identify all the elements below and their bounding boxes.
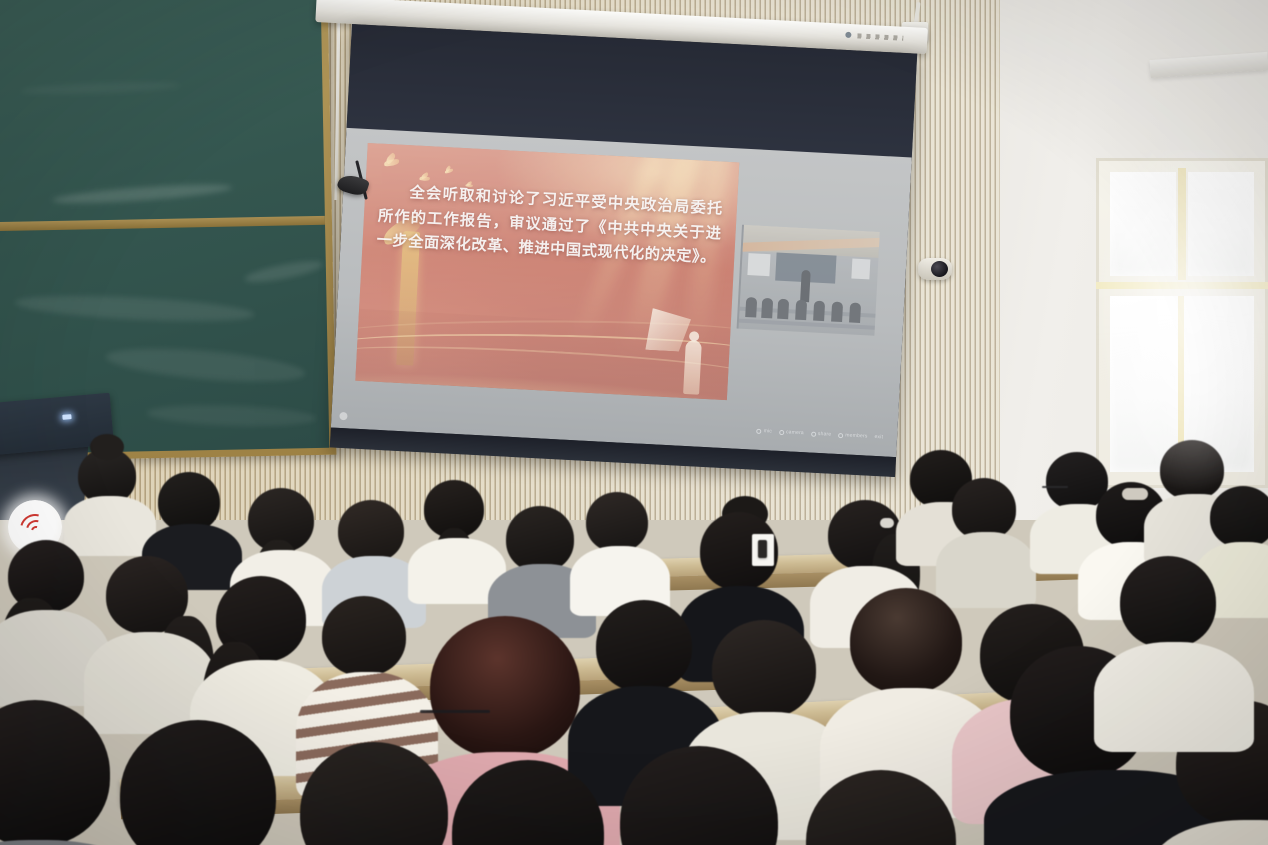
- feed-student: [813, 301, 825, 322]
- head: [1176, 700, 1268, 826]
- ponytail: [434, 528, 474, 600]
- toolbar-item-share[interactable]: share: [811, 431, 832, 438]
- ponytail: [254, 540, 302, 628]
- camera-lens: [931, 261, 948, 277]
- window-mullion: [1178, 296, 1184, 472]
- head: [0, 700, 110, 845]
- head: [322, 596, 406, 676]
- desk-front: [301, 674, 781, 705]
- classroom-photo: 全会听取和讨论了习近平受中央政治局委托所作的工作报告，审议通过了《中共中央关于进…: [0, 0, 1268, 845]
- chalk-smudge: [105, 343, 307, 388]
- feed-student: [745, 297, 757, 318]
- window-pane: [1188, 172, 1254, 276]
- ponytail: [872, 534, 920, 618]
- head: [850, 588, 962, 694]
- dove-icon: [445, 168, 459, 177]
- presentation-slide: 全会听取和讨论了习近平受中央政治局委托所作的工作报告，审议通过了《中共中央关于进…: [355, 143, 739, 400]
- desk-row: [640, 689, 1061, 735]
- chalk-smudge: [146, 403, 317, 429]
- projection-screen: 全会听取和讨论了习近平受中央政治局委托所作的工作报告，审议通过了《中共中央关于进…: [330, 24, 917, 477]
- nike-swoosh-logo: [1153, 830, 1207, 845]
- head: [216, 576, 306, 662]
- feed-presenter: [800, 270, 811, 302]
- live-camera-feed-thumbnail[interactable]: [737, 225, 880, 336]
- feed-wall-panel: [747, 253, 770, 276]
- members-icon: [838, 433, 843, 438]
- housing-vent: [857, 33, 903, 40]
- desk-front: [121, 791, 541, 820]
- head: [806, 770, 956, 845]
- classroom-window: [1096, 158, 1268, 488]
- torso: [142, 524, 242, 590]
- housing-led-icon: [845, 32, 851, 38]
- feed-student: [777, 299, 789, 320]
- window-mullion: [1178, 168, 1186, 280]
- window-pane: [1110, 172, 1176, 276]
- torso: [1094, 642, 1254, 752]
- camera-icon: [779, 429, 784, 434]
- desk-front: [641, 713, 1061, 749]
- window-rail: [1096, 282, 1268, 289]
- torso: [0, 840, 156, 845]
- long-hair: [158, 616, 214, 724]
- mic-icon: [757, 428, 762, 433]
- chalk-smudge: [243, 257, 324, 286]
- feed-student: [795, 300, 807, 321]
- torso: [84, 632, 216, 734]
- torso: [488, 564, 596, 638]
- chalk-smudge: [52, 181, 232, 207]
- torso: [1152, 820, 1268, 845]
- torso: [230, 550, 336, 626]
- long-hair: [202, 642, 268, 772]
- head: [106, 556, 188, 634]
- toolbar-item-exit[interactable]: exit: [874, 434, 883, 440]
- torso: [322, 556, 426, 628]
- desk-row: [660, 553, 870, 576]
- toolbar-item-mic[interactable]: mic: [756, 428, 772, 435]
- toolbar-item-camera[interactable]: camera: [779, 429, 804, 436]
- long-hair: [0, 598, 64, 710]
- feed-student: [849, 302, 861, 323]
- chalk-smudge: [20, 80, 180, 96]
- chalk-smudge: [14, 291, 255, 325]
- dove-icon: [384, 158, 408, 172]
- surveillance-camera-icon: [918, 258, 952, 280]
- desk-front: [660, 571, 870, 590]
- feed-student: [761, 298, 773, 319]
- eyeglasses: [420, 710, 490, 713]
- chalkboard-divider: [0, 216, 325, 231]
- head: [980, 604, 1084, 704]
- water-bottle: [1044, 526, 1060, 570]
- chalkboard-surface: [0, 0, 329, 454]
- share-icon: [811, 431, 816, 436]
- torso: [408, 538, 506, 604]
- desk-row: [300, 652, 780, 691]
- feed-student: [831, 302, 843, 323]
- power-led-icon: [62, 414, 71, 420]
- chalkboard: [0, 0, 336, 461]
- head: [620, 746, 778, 845]
- lectern: [0, 393, 114, 456]
- feed-wall-panel: [851, 259, 870, 280]
- torso: [570, 546, 670, 616]
- desk-row: [120, 765, 541, 806]
- flag-bearer-silhouette: [683, 340, 702, 395]
- torso: [984, 770, 1244, 845]
- torso: [0, 610, 110, 706]
- institution-logo: [8, 500, 62, 554]
